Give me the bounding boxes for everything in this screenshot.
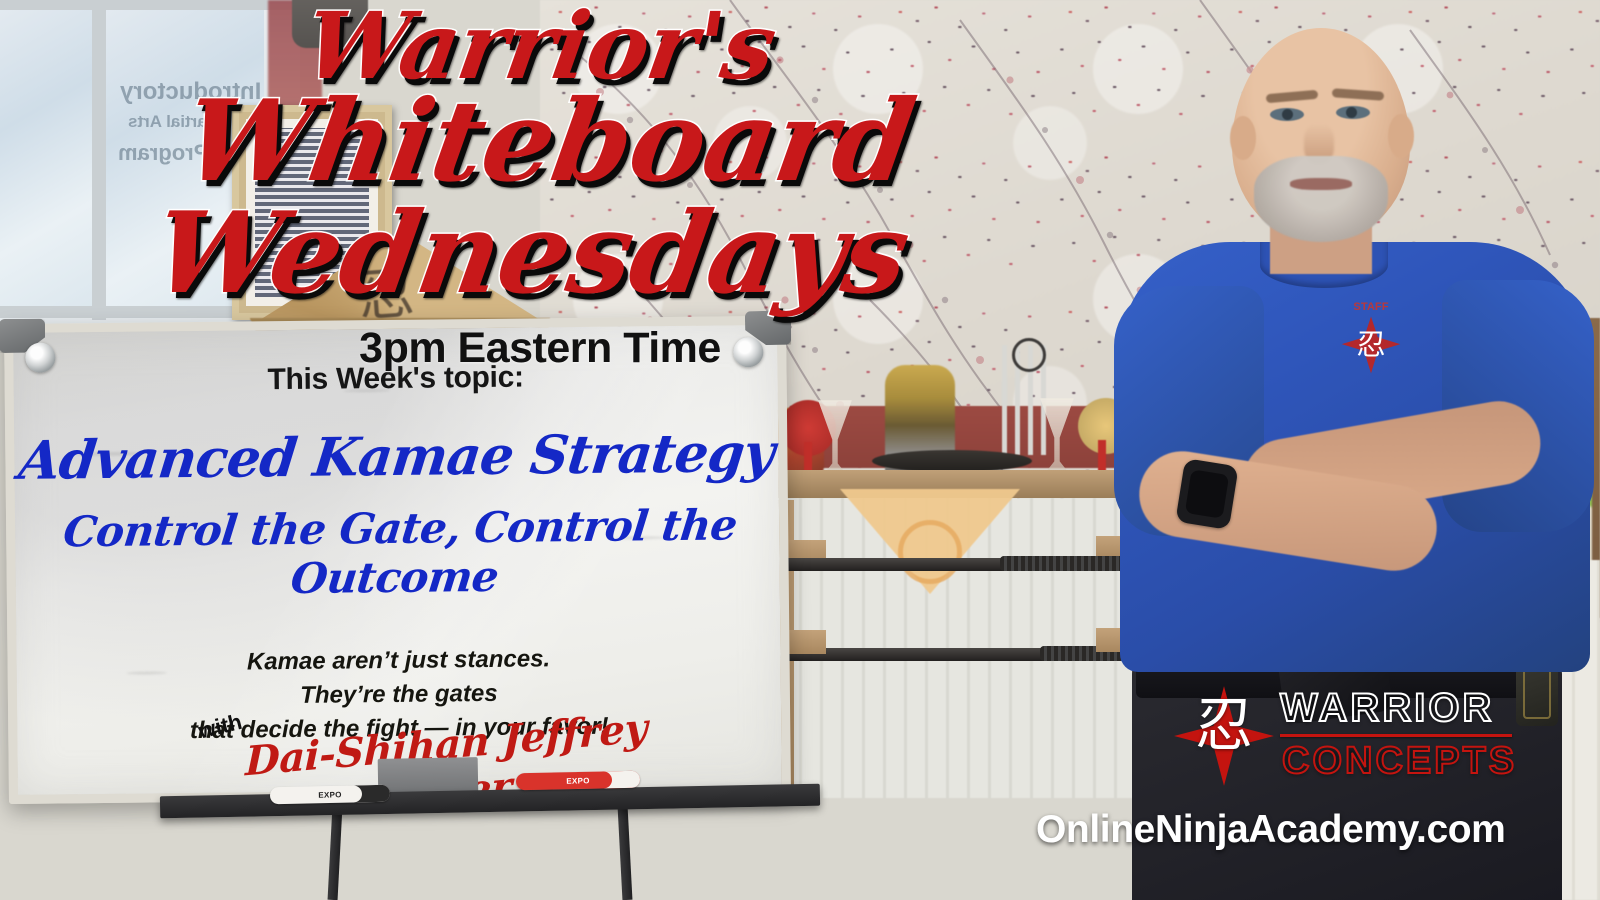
title-line-2: Whiteboard Wednesdays (0, 86, 1098, 310)
svg-text:忍: 忍 (1356, 327, 1385, 361)
topic-main-title: Advanced Kamae Strategy (2, 422, 791, 492)
website-url: OnlineNinjaAcademy.com (1036, 808, 1505, 852)
ear-left (1230, 116, 1256, 160)
cloth-medallion (898, 520, 962, 584)
smartwatch-face (1185, 469, 1229, 518)
smartwatch (1175, 458, 1238, 530)
eye-right (1336, 106, 1370, 119)
mouth (1290, 178, 1352, 190)
broadcast-time: 3pm Eastern Time (0, 324, 1080, 373)
ear-right (1388, 114, 1414, 158)
logo-divider-rule (1280, 734, 1512, 737)
expo-marker-red: EXPO (516, 771, 640, 791)
staff-shirt-logo: STAFF 忍 (1328, 296, 1414, 382)
logo-warrior-text: WARRIOR (1280, 686, 1494, 731)
sword-rack-bracket-3 (786, 630, 826, 654)
header-titles: Warrior's Whiteboard Wednesdays 3pm East… (0, 0, 1080, 373)
logo-concepts-text: CONCEPTS (1282, 740, 1517, 783)
logo-kanji: 忍 (1186, 696, 1262, 754)
warrior-concepts-logo: 忍 WARRIOR CONCEPTS (1172, 678, 1512, 790)
expo-marker-black-label: EXPO (318, 790, 342, 799)
eye-left (1270, 108, 1304, 121)
katana-on-stand (872, 450, 1032, 472)
whiteboard-content: This Week's topic: Advanced Kamae Strate… (4, 316, 791, 804)
expo-marker-red-label: EXPO (566, 776, 590, 785)
beard (1254, 156, 1388, 242)
topic-subtitle: Control the Gate, Control the Outcome (1, 500, 794, 606)
expo-marker-black: EXPO (270, 785, 390, 805)
promo-graphic: Introductory Martial Arts Program 忍 (0, 0, 1600, 900)
staff-logo-text: STAFF (1353, 301, 1388, 313)
